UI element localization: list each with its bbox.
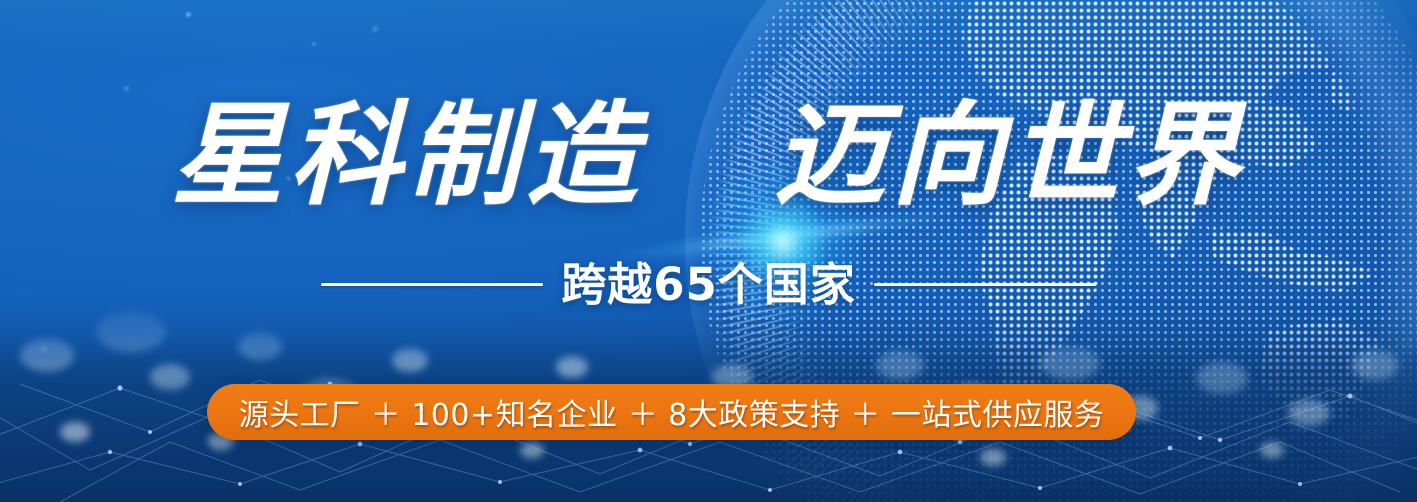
cta-pill[interactable]: 源头工厂 ＋ 100+知名企业 ＋ 8大政策支持 ＋ 一站式供应服务 <box>207 384 1136 440</box>
subtitle-row: 跨越65个国家 <box>0 262 1417 307</box>
subtitle-text: 跨越65个国家 <box>555 262 862 307</box>
promo-banner: 星科制造 迈向世界 跨越65个国家 源头工厂 ＋ 100+知名企业 ＋ 8大政策… <box>0 0 1417 502</box>
subtitle-rule-left <box>321 283 543 286</box>
headline-part-2: 迈向世界 <box>774 90 1246 221</box>
speck-dot <box>312 42 316 46</box>
headline: 星科制造 迈向世界 <box>0 96 1417 217</box>
cta-pill-text: 源头工厂 ＋ 100+知名企业 ＋ 8大政策支持 ＋ 一站式供应服务 <box>239 390 1105 434</box>
headline-part-1: 星科制造 <box>172 90 644 221</box>
speck-dot <box>186 12 191 17</box>
speck-dot <box>124 86 129 91</box>
background-top-sheen <box>0 0 1417 60</box>
speck-dot <box>372 26 378 32</box>
subtitle-rule-right <box>874 283 1096 286</box>
speck-dot <box>40 346 47 353</box>
